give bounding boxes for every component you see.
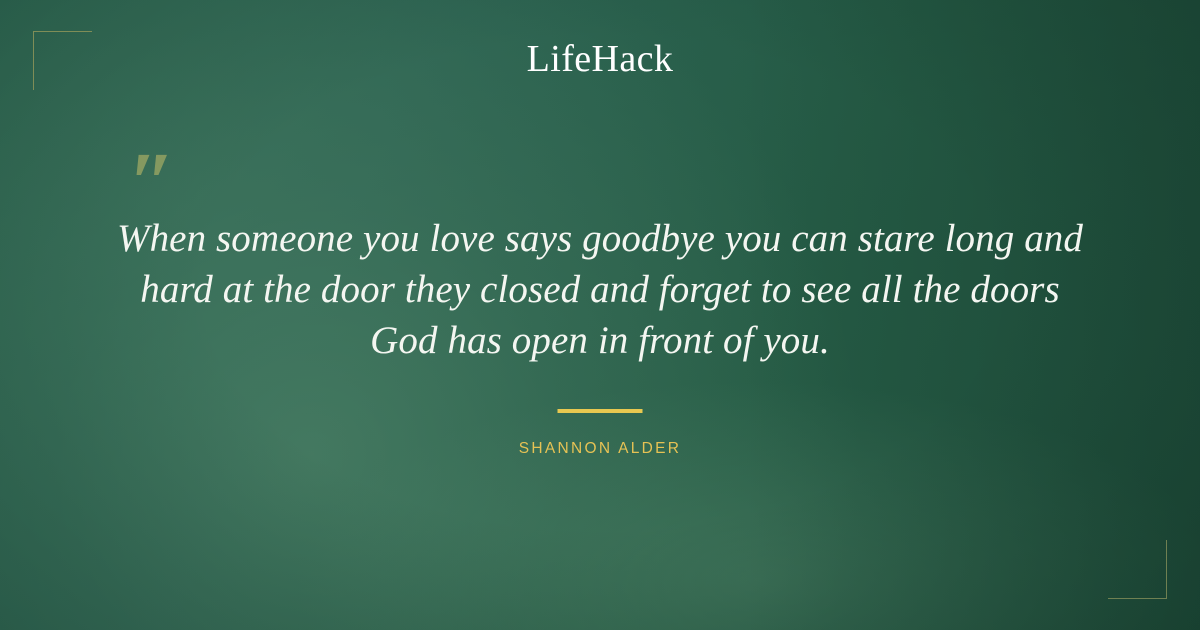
quote-author: SHANNON ALDER [0,440,1200,458]
quote-block: When someone you love says goodbye you c… [90,213,1110,366]
quote-line-2: hard at the door they closed and forget … [90,264,1110,315]
corner-bracket-bottom-right-icon [1108,540,1167,599]
quote-card: LifeHack ″ When someone you love says go… [0,0,1200,630]
quote-line-3: God has open in front of you. [90,315,1110,366]
attribution-divider [558,409,643,413]
brand-logo: LifeHack [0,40,1200,78]
quote-line-1: When someone you love says goodbye you c… [90,213,1110,264]
